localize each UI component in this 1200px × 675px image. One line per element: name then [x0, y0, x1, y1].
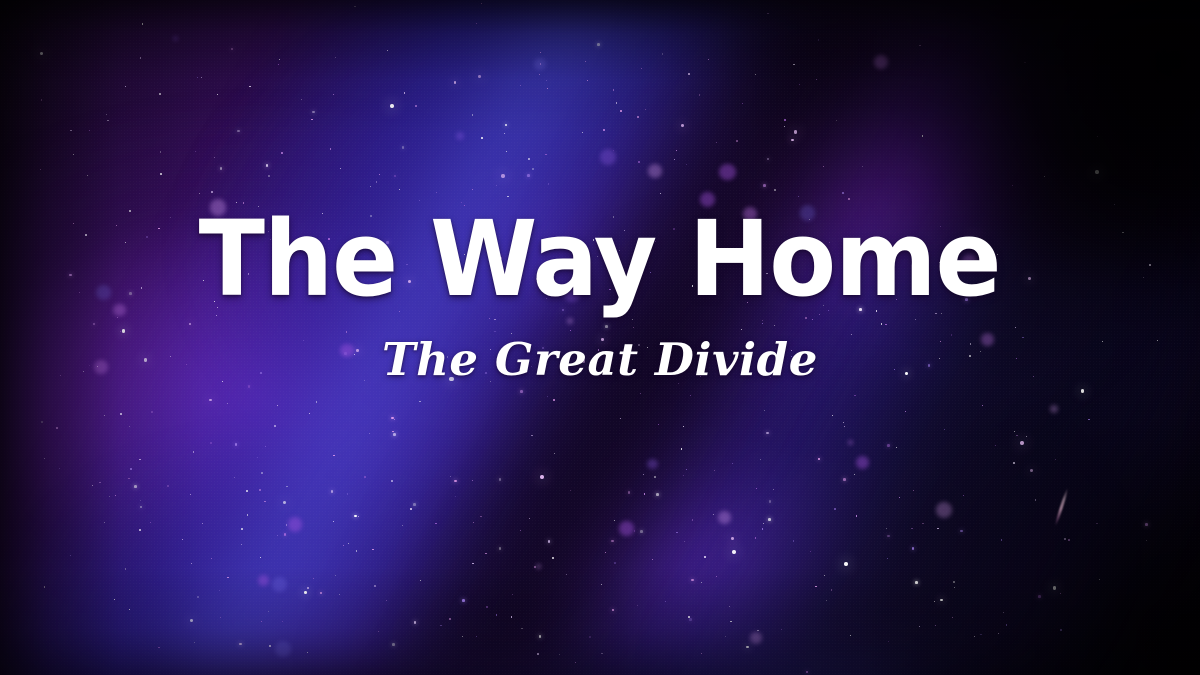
nebula-violet-glow-lower: [0, 0, 1200, 675]
star: [552, 557, 553, 558]
star: [732, 463, 733, 464]
star: [809, 219, 810, 220]
star: [146, 236, 148, 238]
star: [844, 426, 845, 427]
star: [476, 23, 477, 24]
star-bright: [501, 174, 505, 178]
star: [806, 671, 809, 674]
star: [392, 643, 395, 646]
star: [998, 633, 999, 634]
star-bright: [905, 372, 908, 375]
star: [129, 609, 130, 610]
star: [335, 57, 336, 58]
star: [239, 643, 242, 646]
star: [346, 331, 347, 332]
star: [534, 566, 536, 568]
star: [282, 621, 283, 622]
star: [391, 417, 394, 420]
star: [638, 344, 640, 346]
star: [481, 137, 483, 139]
title-text-block: The Way Home The Great Divide: [0, 0, 1200, 675]
star: [762, 323, 763, 324]
star-bokeh-orb: [800, 205, 816, 221]
star: [182, 539, 183, 540]
star-bright: [454, 81, 457, 84]
star: [944, 429, 945, 430]
star: [140, 506, 143, 509]
star: [109, 496, 110, 497]
star: [634, 530, 636, 532]
star: [220, 617, 221, 618]
star: [539, 74, 540, 75]
star: [995, 445, 996, 446]
star: [83, 371, 84, 372]
star: [686, 469, 687, 470]
star: [614, 520, 615, 521]
star: [1102, 341, 1103, 342]
star: [1013, 462, 1015, 464]
star-bokeh-orb: [96, 285, 111, 300]
star-bright: [577, 278, 580, 281]
star: [69, 274, 72, 277]
star: [1044, 176, 1045, 177]
star: [770, 377, 772, 379]
star: [506, 151, 507, 152]
star: [1060, 593, 1061, 594]
star: [447, 356, 449, 358]
star: [1157, 340, 1158, 341]
star: [274, 425, 276, 427]
star: [823, 305, 824, 306]
star: [160, 151, 161, 152]
star-bright: [601, 338, 604, 341]
star: [850, 635, 852, 637]
star-bright: [190, 619, 193, 622]
star: [662, 343, 663, 344]
star: [638, 161, 640, 163]
star: [462, 636, 463, 637]
star: [692, 519, 694, 521]
star-bokeh-orb: [874, 55, 889, 70]
nebula-dust-lane-primary: [0, 0, 1200, 675]
star: [228, 284, 229, 285]
star: [415, 105, 417, 107]
star: [763, 184, 766, 187]
star-bright: [1081, 389, 1085, 393]
star: [248, 273, 249, 274]
star: [896, 447, 897, 448]
star: [358, 516, 359, 517]
star-bright: [408, 280, 411, 283]
star: [460, 284, 462, 286]
star: [461, 202, 462, 203]
star: [641, 68, 642, 69]
star: [616, 102, 617, 103]
star: [44, 586, 45, 587]
star: [104, 415, 105, 416]
star: [1022, 337, 1024, 339]
star: [843, 422, 844, 423]
star: [44, 458, 45, 459]
star-bokeh-orb: [534, 58, 546, 70]
star: [197, 77, 198, 78]
star: [1038, 595, 1041, 598]
star: [940, 226, 941, 227]
star-bright: [144, 358, 148, 362]
star: [370, 186, 371, 187]
star: [93, 323, 96, 326]
star: [823, 166, 824, 167]
star: [690, 395, 691, 396]
star: [716, 142, 717, 143]
star-bokeh-orb: [648, 164, 662, 178]
nebula-violet-glow-center: [0, 0, 1200, 675]
star: [125, 568, 127, 570]
star: [757, 630, 758, 631]
star: [472, 563, 473, 564]
star-bright: [681, 124, 684, 127]
star: [742, 103, 743, 104]
star-bright: [189, 323, 192, 326]
star: [531, 435, 532, 436]
star: [954, 587, 955, 588]
star: [570, 490, 571, 491]
star: [248, 385, 251, 388]
star-bokeh-orb: [962, 254, 978, 270]
star: [260, 372, 262, 374]
star: [1003, 612, 1004, 613]
star: [264, 501, 265, 502]
star: [934, 601, 935, 602]
star-bokeh-orb: [848, 440, 853, 445]
star-bokeh-orb: [567, 318, 572, 323]
star: [676, 150, 677, 151]
star-bokeh-orb: [719, 164, 736, 181]
star: [340, 168, 341, 169]
star: [1014, 431, 1015, 432]
star: [436, 192, 437, 193]
star: [553, 399, 555, 401]
star: [704, 245, 707, 248]
star: [562, 309, 565, 312]
star: [701, 653, 702, 654]
star: [449, 618, 451, 620]
star: [582, 132, 583, 133]
star: [59, 468, 60, 469]
star: [511, 333, 512, 334]
star: [399, 311, 400, 312]
star: [1122, 232, 1124, 234]
star: [243, 202, 245, 204]
star: [713, 514, 714, 515]
star: [70, 130, 71, 131]
slide-title: The Way Home: [199, 207, 1001, 311]
star: [741, 329, 742, 330]
star: [201, 77, 202, 78]
star: [824, 575, 825, 576]
star-bright: [40, 52, 44, 56]
star: [307, 587, 309, 589]
star: [278, 64, 279, 65]
star: [362, 270, 363, 271]
star: [309, 413, 310, 414]
star: [89, 130, 90, 131]
vignette-bottom-right: [0, 0, 1200, 675]
star: [339, 594, 340, 595]
star: [56, 427, 58, 429]
star: [952, 617, 953, 618]
star: [186, 364, 187, 365]
star-bokeh-orb: [856, 456, 869, 469]
star: [462, 599, 465, 602]
star: [881, 323, 883, 325]
nebula-violet-glow-left: [0, 0, 1200, 675]
star: [142, 23, 143, 24]
star-bright: [844, 562, 848, 566]
star-bright: [541, 279, 545, 283]
star: [331, 490, 334, 493]
star: [951, 334, 952, 335]
star: [307, 652, 308, 653]
star: [755, 74, 756, 75]
star: [665, 601, 666, 602]
star: [791, 356, 792, 357]
star: [499, 478, 502, 481]
star: [87, 175, 88, 176]
star-bright: [582, 359, 586, 363]
star: [265, 446, 266, 447]
star: [546, 80, 547, 81]
star: [683, 426, 684, 427]
star: [658, 424, 659, 425]
star: [227, 403, 228, 404]
star: [236, 202, 237, 203]
star: [322, 213, 323, 214]
star: [333, 94, 334, 95]
star: [450, 476, 451, 477]
star: [496, 614, 497, 615]
star: [763, 523, 764, 524]
star: [258, 206, 259, 207]
star: [134, 485, 137, 488]
star: [601, 653, 603, 655]
star: [605, 325, 608, 328]
star: [711, 220, 713, 222]
star: [1068, 539, 1070, 541]
star: [1016, 358, 1017, 359]
star: [656, 493, 659, 496]
star: [941, 313, 942, 314]
star-bright: [478, 75, 481, 78]
star: [919, 626, 920, 627]
star: [527, 174, 530, 177]
star: [274, 216, 275, 217]
star: [404, 92, 406, 94]
star: [85, 234, 87, 236]
star: [546, 298, 547, 299]
star: [125, 86, 126, 87]
star: [259, 489, 261, 491]
star: [686, 164, 687, 165]
star: [284, 533, 287, 536]
star: [637, 116, 639, 118]
star: [729, 606, 730, 607]
star: [613, 216, 615, 218]
star: [261, 621, 262, 622]
star: [960, 530, 963, 533]
star: [730, 621, 732, 623]
star: [170, 356, 171, 357]
star: [970, 343, 971, 344]
star: [391, 480, 393, 482]
star: [419, 200, 420, 201]
star: [701, 582, 702, 583]
star: [1088, 419, 1089, 420]
star: [854, 474, 855, 475]
star-bright: [1028, 277, 1031, 280]
star: [768, 518, 771, 521]
star: [277, 405, 278, 406]
star: [854, 395, 856, 397]
star: [553, 275, 555, 277]
star: [167, 485, 169, 487]
star: [311, 119, 312, 120]
star: [199, 193, 200, 194]
star: [532, 168, 534, 170]
star: [1064, 538, 1065, 539]
star: [419, 401, 421, 403]
star-bright: [122, 329, 125, 332]
nebula-grain-texture: [0, 0, 1200, 675]
star: [613, 89, 614, 90]
star: [542, 347, 545, 350]
star: [472, 114, 474, 116]
star-bokeh-orb: [647, 459, 657, 469]
star: [781, 629, 782, 630]
star: [473, 522, 475, 524]
star: [454, 480, 457, 483]
star: [394, 175, 397, 178]
star-bokeh-orb: [456, 132, 464, 140]
star: [150, 522, 151, 523]
nebula-violet-glow-bottom-left: [0, 0, 1200, 675]
star: [40, 169, 41, 170]
star: [688, 616, 690, 618]
star: [818, 39, 820, 41]
star: [481, 3, 482, 4]
star: [203, 280, 204, 281]
star-bokeh-orb: [981, 333, 994, 346]
star: [896, 299, 897, 300]
star: [605, 552, 606, 553]
star: [915, 319, 916, 320]
star: [689, 618, 692, 621]
star: [644, 493, 645, 494]
star: [378, 631, 379, 632]
star: [539, 635, 542, 638]
star: [1099, 579, 1100, 580]
star: [640, 530, 643, 533]
slide-subtitle: The Great Divide: [382, 337, 818, 382]
star: [394, 419, 395, 420]
star-bokeh-orb: [340, 344, 354, 358]
star: [725, 636, 726, 637]
star: [529, 159, 530, 160]
star: [354, 6, 356, 8]
star: [553, 271, 555, 273]
star: [402, 146, 405, 149]
star: [354, 354, 355, 355]
star: [531, 366, 532, 367]
star: [260, 557, 261, 558]
star: [140, 500, 141, 501]
star: [115, 495, 116, 496]
star-bokeh-orb: [750, 632, 762, 644]
star: [191, 563, 192, 564]
star-bright: [356, 349, 359, 352]
star: [939, 358, 940, 359]
star: [564, 290, 565, 291]
star: [141, 287, 143, 289]
star: [593, 239, 595, 241]
star: [536, 278, 537, 279]
star: [79, 292, 80, 293]
star: [831, 589, 832, 590]
star: [611, 540, 614, 543]
star: [755, 277, 756, 278]
star: [980, 634, 982, 636]
star: [681, 448, 683, 450]
star: [114, 599, 115, 600]
star: [348, 543, 349, 544]
star: [982, 405, 983, 406]
star: [231, 48, 234, 51]
star-bright: [940, 599, 943, 602]
star: [826, 600, 827, 601]
star: [190, 494, 191, 495]
star: [545, 154, 547, 156]
star: [1145, 523, 1148, 526]
star: [843, 478, 846, 481]
star: [480, 516, 481, 517]
star: [440, 625, 442, 627]
star: [202, 523, 203, 524]
star: [766, 432, 769, 435]
star: [376, 181, 377, 182]
star: [862, 166, 863, 167]
star: [647, 347, 648, 348]
star: [791, 350, 792, 351]
star: [216, 315, 217, 316]
star: [1114, 204, 1115, 205]
star-bright: [791, 139, 794, 142]
star: [810, 551, 811, 552]
star: [1024, 62, 1026, 64]
star: [344, 352, 347, 355]
star: [913, 490, 914, 491]
star: [499, 547, 502, 550]
star: [997, 254, 998, 255]
star: [548, 183, 549, 184]
star: [1001, 539, 1002, 540]
star: [472, 480, 473, 481]
star: [1026, 436, 1027, 437]
star-field: [0, 0, 1200, 675]
star-bokeh-orb: [113, 304, 126, 317]
star: [668, 360, 669, 361]
star: [312, 111, 315, 114]
star: [158, 647, 160, 649]
